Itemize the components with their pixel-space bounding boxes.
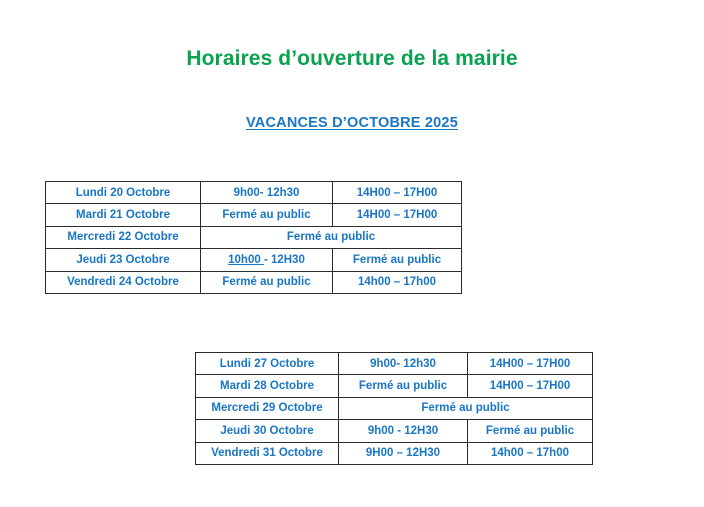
day-label-cell: Vendredi 31 Octobre	[196, 442, 339, 464]
hours-cell: 14H00 – 17H00	[333, 182, 462, 204]
table-row: Jeudi 30 Octobre9h00 - 12H30Fermé au pub…	[196, 420, 593, 442]
table-row: Mercredi 29 OctobreFermé au public	[196, 397, 593, 419]
hours-cell: Fermé au public	[468, 420, 593, 442]
hours-plain-part: - 12H30	[264, 254, 305, 266]
page-title: Horaires d’ouverture de la mairie	[0, 47, 704, 71]
hours-cell: 14H00 – 17H00	[333, 204, 462, 226]
hours-cell: 14h00 – 17h00	[468, 442, 593, 464]
day-label-cell: Lundi 20 Octobre	[46, 182, 201, 204]
day-label-cell: Vendredi 24 Octobre	[46, 271, 201, 293]
hours-underlined-part: 10h00	[228, 254, 264, 266]
schedule-table-week-1: Lundi 20 Octobre9h00- 12h3014H00 – 17H00…	[45, 181, 462, 294]
day-label-cell: Lundi 27 Octobre	[196, 353, 339, 375]
hours-cell: 14h00 – 17h00	[333, 271, 462, 293]
schedule-table-body: Lundi 27 Octobre9h00- 12h3014H00 – 17H00…	[196, 353, 593, 465]
table-row: Vendredi 24 OctobreFermé au public14h00 …	[46, 271, 462, 293]
page-subtitle: VACANCES D’OCTOBRE 2025	[0, 115, 704, 131]
day-label-cell: Jeudi 23 Octobre	[46, 249, 201, 271]
day-label-cell: Mardi 21 Octobre	[46, 204, 201, 226]
table-row: Jeudi 23 Octobre10h00 - 12H30Fermé au pu…	[46, 249, 462, 271]
hours-cell: 14H00 – 17H00	[468, 375, 593, 397]
hours-cell: Fermé au public	[201, 226, 462, 248]
hours-cell: Fermé au public	[339, 375, 468, 397]
hours-cell: 10h00 - 12H30	[201, 249, 333, 271]
hours-cell: 9H00 – 12H30	[339, 442, 468, 464]
hours-cell: Fermé au public	[339, 397, 593, 419]
schedule-table-week-2: Lundi 27 Octobre9h00- 12h3014H00 – 17H00…	[195, 352, 593, 465]
hours-cell: 9h00 - 12H30	[339, 420, 468, 442]
hours-cell: 9h00- 12h30	[201, 182, 333, 204]
hours-cell: Fermé au public	[333, 249, 462, 271]
table-row: Vendredi 31 Octobre9H00 – 12H3014h00 – 1…	[196, 442, 593, 464]
day-label-cell: Mercredi 29 Octobre	[196, 397, 339, 419]
hours-cell: Fermé au public	[201, 271, 333, 293]
schedule-table-body: Lundi 20 Octobre9h00- 12h3014H00 – 17H00…	[46, 182, 462, 294]
hours-cell: 9h00- 12h30	[339, 353, 468, 375]
day-label-cell: Mardi 28 Octobre	[196, 375, 339, 397]
hours-cell: Fermé au public	[201, 204, 333, 226]
day-label-cell: Jeudi 30 Octobre	[196, 420, 339, 442]
table-row: Mardi 21 OctobreFermé au public14H00 – 1…	[46, 204, 462, 226]
day-label-cell: Mercredi 22 Octobre	[46, 226, 201, 248]
table-row: Lundi 20 Octobre9h00- 12h3014H00 – 17H00	[46, 182, 462, 204]
table-row: Mercredi 22 OctobreFermé au public	[46, 226, 462, 248]
table-row: Lundi 27 Octobre9h00- 12h3014H00 – 17H00	[196, 353, 593, 375]
table-row: Mardi 28 OctobreFermé au public14H00 – 1…	[196, 375, 593, 397]
hours-cell: 14H00 – 17H00	[468, 353, 593, 375]
